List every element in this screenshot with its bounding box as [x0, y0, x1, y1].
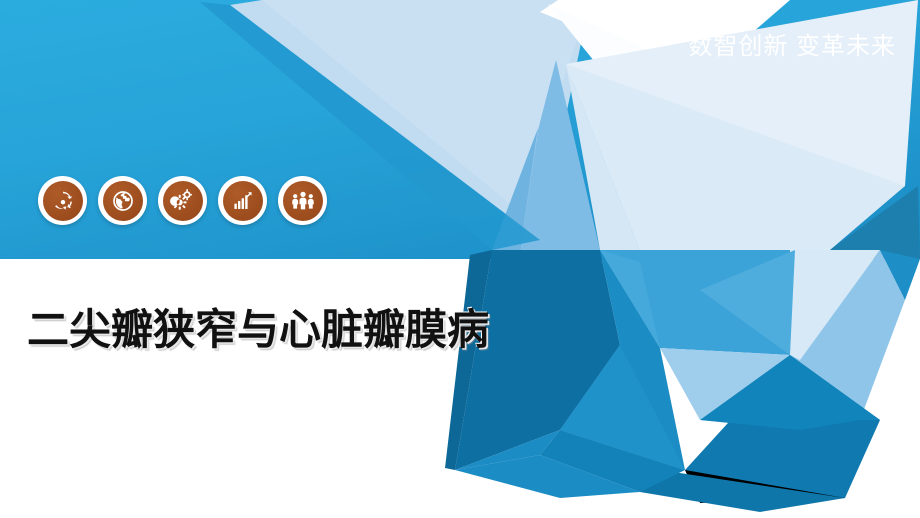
poly-lower-mid-left — [560, 250, 685, 470]
poly-tail-deep-b — [700, 355, 880, 430]
slide-canvas: 数智创新 变革未来 — [0, 0, 920, 518]
poly-lower-dark-left — [455, 250, 620, 470]
globe-icon — [103, 181, 143, 221]
people-group-icon — [283, 181, 323, 221]
poly-lower-pale-center — [790, 250, 880, 360]
poly-accent-b — [540, 430, 685, 492]
poly-tail-deep-c — [685, 470, 845, 503]
icon-row — [38, 176, 327, 225]
gears-icon — [163, 181, 203, 221]
poly-lower-mid-left-b — [560, 345, 685, 470]
icon-badge-people-group[interactable] — [278, 176, 327, 225]
poly-tail-deep-d — [640, 470, 845, 512]
poly-lower-center — [600, 250, 790, 355]
tagline-text: 数智创新 变革未来 — [688, 26, 896, 61]
poly-lower-center-b — [600, 250, 660, 348]
bar-chart-growth-icon — [223, 181, 263, 221]
refresh-cycle-icon — [43, 181, 83, 221]
icon-badge-bar-chart-growth[interactable] — [218, 176, 267, 225]
poly-tail-deep — [685, 355, 880, 500]
poly-lower-pale-tri — [660, 348, 800, 430]
poly-accent-c — [455, 455, 640, 498]
poly-lower-light-right — [790, 250, 905, 430]
page-title: 二尖瓣狭窄与心脏瓣膜病 — [27, 296, 489, 357]
poly-accent-a — [455, 430, 560, 470]
icon-badge-gears[interactable] — [158, 176, 207, 225]
poly-lower-dark-left-b — [445, 250, 492, 470]
icon-badge-refresh-cycle[interactable] — [38, 176, 87, 225]
icon-badge-globe[interactable] — [98, 176, 147, 225]
poly-lower-pale-center-b — [700, 250, 795, 355]
